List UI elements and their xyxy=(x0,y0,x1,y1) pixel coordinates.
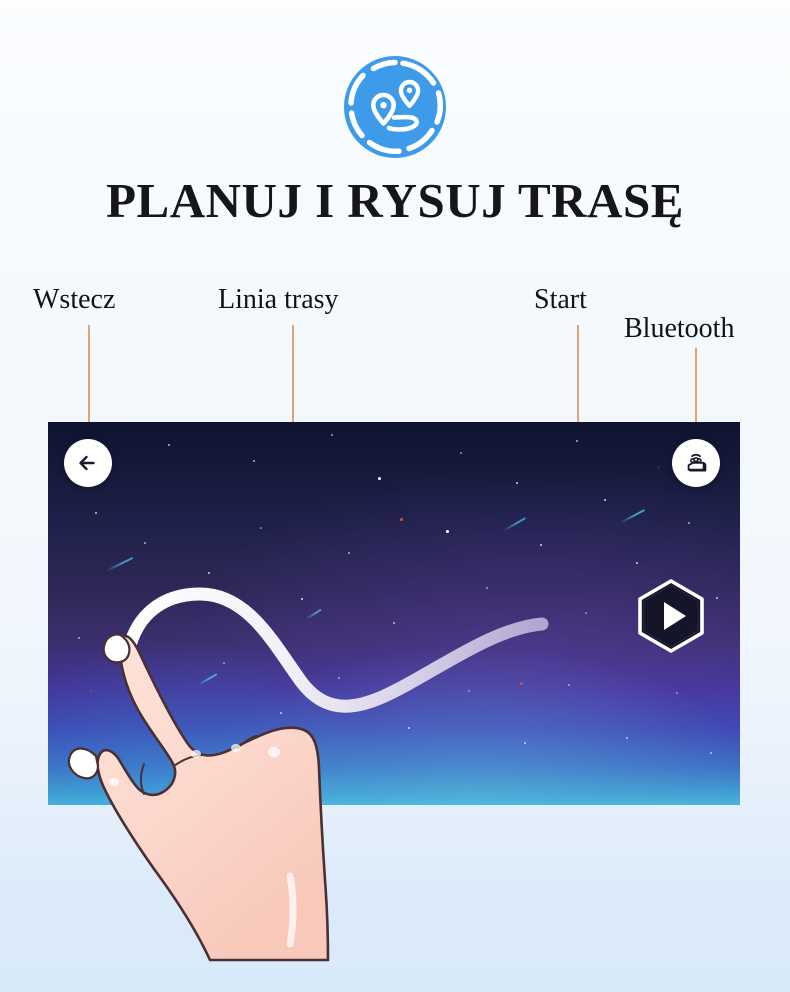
start-button[interactable] xyxy=(636,579,706,653)
arrow-left-icon xyxy=(75,450,101,476)
play-icon xyxy=(636,579,706,653)
bluetooth-device-icon xyxy=(681,448,711,478)
route-pins-logo-icon xyxy=(343,55,447,159)
callout-label-linia-trasy: Linia trasy xyxy=(218,286,339,314)
callout-label-bluetooth: Bluetooth xyxy=(624,315,734,343)
pointing-hand-illustration xyxy=(78,614,398,974)
page-title: PLANUJ I RYSUJ TRASĘ xyxy=(0,172,790,229)
callout-label-wstecz: Wstecz xyxy=(33,286,115,314)
bluetooth-button[interactable] xyxy=(672,439,720,487)
app-logo xyxy=(343,55,447,159)
back-button[interactable] xyxy=(64,439,112,487)
callout-label-start: Start xyxy=(534,286,587,314)
promo-page: PLANUJ I RYSUJ TRASĘ Wstecz Linia trasy … xyxy=(0,0,790,992)
